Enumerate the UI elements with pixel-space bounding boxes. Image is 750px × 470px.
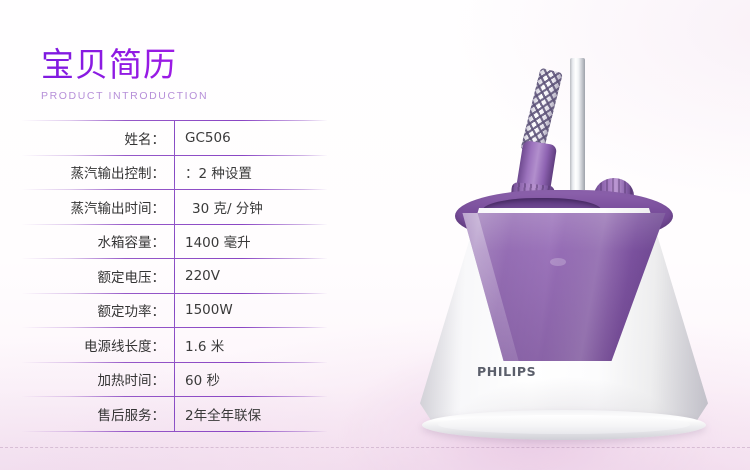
spec-value: 2年全年联保 <box>175 404 327 424</box>
spec-label: 额定电压： <box>22 266 174 286</box>
spec-value: 1400 毫升 <box>175 231 327 251</box>
table-row: 额定电压： 220V <box>22 258 327 293</box>
page-heading: 宝贝简历 PRODUCT INTRODUCTION <box>41 46 371 103</box>
table-row: 蒸汽输出控制： ：2 种设置 <box>22 155 327 190</box>
spec-label: 姓名： <box>22 128 174 148</box>
spec-label: 加热时间： <box>22 369 174 389</box>
product-introduction-page: 宝贝简历 PRODUCT INTRODUCTION 姓名： GC506 蒸汽输出… <box>0 0 750 470</box>
specification-table: 姓名： GC506 蒸汽输出控制： ：2 种设置 蒸汽输出时间： 30 克/ 分… <box>22 120 327 432</box>
spec-value: 30 克/ 分钟 <box>175 197 327 217</box>
spec-value: ：2 种设置 <box>175 162 327 182</box>
steamer-pole <box>570 58 585 190</box>
table-row: 电源线长度： 1.6 米 <box>22 327 327 362</box>
product-image-garment-steamer: PHILIPS <box>398 58 728 450</box>
steamer-base-ring-inner <box>438 415 690 434</box>
table-row: 加热时间： 60 秒 <box>22 362 327 397</box>
spec-label: 蒸汽输出时间： <box>22 197 174 217</box>
spec-label: 水箱容量： <box>22 231 174 251</box>
spec-value: 60 秒 <box>175 369 327 389</box>
spec-label: 电源线长度： <box>22 335 174 355</box>
page-title: 宝贝简历 <box>41 46 371 84</box>
spec-label: 蒸汽输出控制： <box>22 162 174 182</box>
table-row: 售后服务： 2年全年联保 <box>22 396 327 432</box>
table-row: 姓名： GC506 <box>22 120 327 155</box>
spec-value: 1.6 米 <box>175 335 327 355</box>
page-subtitle: PRODUCT INTRODUCTION <box>41 90 371 103</box>
spec-value: GC506 <box>175 130 327 146</box>
spec-value: 220V <box>175 268 327 284</box>
table-row: 额定功率： 1500W <box>22 293 327 328</box>
spec-value: 1500W <box>175 302 327 318</box>
table-row: 水箱容量： 1400 毫升 <box>22 224 327 259</box>
water-tank-valve <box>550 258 566 266</box>
table-row: 蒸汽输出时间： 30 克/ 分钟 <box>22 189 327 224</box>
spec-label: 售后服务： <box>22 404 174 424</box>
spec-label: 额定功率： <box>22 300 174 320</box>
philips-brand-label: PHILIPS <box>477 364 536 379</box>
